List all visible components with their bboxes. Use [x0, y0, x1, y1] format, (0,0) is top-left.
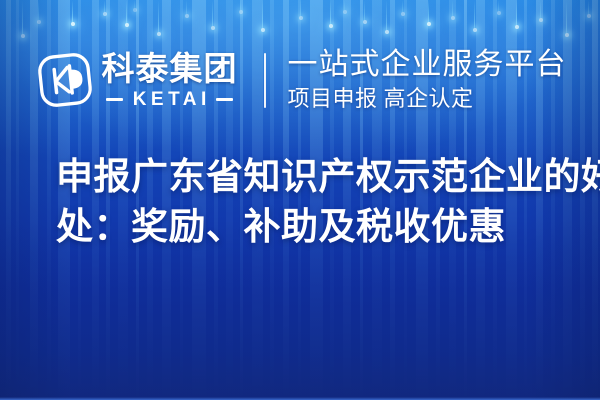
- meteor-particle: [212, 0, 213, 28]
- headline-line-1: 申报广东省知识产权示范企业的好: [56, 152, 564, 202]
- brand-name-en-row: KETAI: [102, 90, 238, 109]
- headline-line-2: 处：奖励、补助及税收优惠: [56, 202, 564, 252]
- tagline-secondary: 项目申报 高企认定: [288, 87, 567, 111]
- brand-logo: 科泰集团 KETAI: [34, 49, 238, 111]
- headline-block: 申报广东省知识产权示范企业的好 处：奖励、补助及税收优惠: [56, 152, 564, 252]
- brand-wordmark: 科泰集团 KETAI: [102, 52, 238, 109]
- meteor-particle: [126, 0, 127, 25]
- brand-tagline: 一站式企业服务平台 项目申报 高企认定: [288, 49, 567, 112]
- meteor-particle: [330, 0, 331, 26]
- meteor-particle: [588, 0, 589, 16]
- tagline-primary: 一站式企业服务平台: [288, 49, 567, 81]
- meteor-particle: [38, 0, 39, 22]
- wordmark-dash-right: [216, 98, 233, 101]
- header-vertical-divider: [264, 53, 266, 108]
- meteor-particle: [364, 0, 365, 22]
- meteor-particle: [134, 0, 135, 10]
- meteor-particle: [402, 0, 403, 14]
- meteor-particle: [344, 0, 345, 12]
- meteor-particle: [72, 0, 73, 24]
- meteor-particle: [22, 0, 23, 36]
- meteor-particle: [452, 0, 453, 18]
- meteor-particle: [386, 0, 387, 32]
- ketai-diamond-monogram-icon: [34, 49, 96, 111]
- meteor-particle: [540, 0, 541, 20]
- meteor-particle: [498, 0, 499, 13]
- meteor-particle: [104, 0, 105, 14]
- wordmark-dash-left: [106, 98, 123, 101]
- banner-header: 科泰集团 KETAI 一站式企业服务平台 项目申报 高企认定: [0, 44, 600, 116]
- meteor-particle: [262, 0, 263, 30]
- promo-banner: 科泰集团 KETAI 一站式企业服务平台 项目申报 高企认定 申报广东省知识产权…: [0, 0, 600, 400]
- brand-name-cn: 科泰集团: [102, 52, 238, 85]
- meteor-particle: [158, 0, 159, 34]
- meteor-particle: [428, 0, 429, 24]
- meteor-particle: [300, 0, 301, 18]
- meteor-particle: [566, 0, 567, 35]
- meteor-particle: [474, 0, 475, 30]
- meteor-particle: [186, 0, 187, 16]
- meteor-particle: [240, 0, 241, 12]
- meteor-particle: [516, 0, 517, 27]
- brand-name-en: KETAI: [128, 90, 211, 109]
